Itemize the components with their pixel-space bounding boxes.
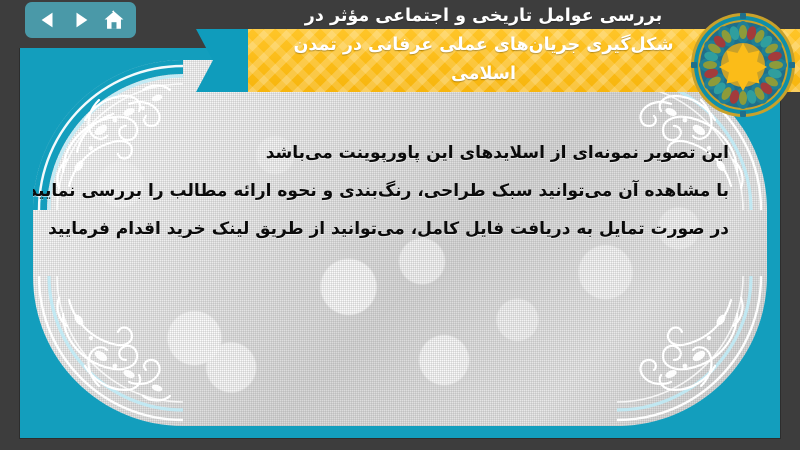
navigation-controls	[25, 2, 136, 38]
home-button[interactable]	[99, 6, 129, 34]
corner-ornament-bottom-right	[617, 276, 767, 426]
slide-content-panel: این تصویر نمونه‌ای از اسلایدهای این پاور…	[33, 60, 767, 426]
title-line-3: اسلامی	[196, 60, 771, 89]
slide-frame: این تصویر نمونه‌ای از اسلایدهای این پاور…	[20, 48, 780, 438]
home-icon	[103, 9, 125, 31]
body-line-1: این تصویر نمونه‌ای از اسلایدهای این پاور…	[33, 134, 729, 172]
title-line-1: بررسی عوامل تاریخی و اجتماعی مؤثر در	[196, 2, 771, 31]
body-line-3: در صورت تمایل به دریافت فایل کامل، می‌تو…	[33, 210, 729, 248]
slide-viewer: این تصویر نمونه‌ای از اسلایدهای این پاور…	[0, 0, 800, 450]
arrow-left-icon	[38, 10, 58, 30]
body-line-2: با مشاهده آن می‌توانید سبک طراحی، رنگ‌بن…	[33, 172, 729, 210]
islamic-medallion-ornament	[690, 12, 796, 118]
corner-ornament-bottom-left	[33, 276, 183, 426]
previous-slide-button[interactable]	[33, 6, 63, 34]
slide-title: بررسی عوامل تاریخی و اجتماعی مؤثر در شکل…	[196, 2, 771, 89]
title-line-2: شکل‌گیری جریان‌های عملی عرفانی در تمدن	[196, 31, 771, 60]
arrow-right-icon	[71, 10, 91, 30]
slide-body-text: این تصویر نمونه‌ای از اسلایدهای این پاور…	[33, 134, 767, 248]
next-slide-button[interactable]	[66, 6, 96, 34]
